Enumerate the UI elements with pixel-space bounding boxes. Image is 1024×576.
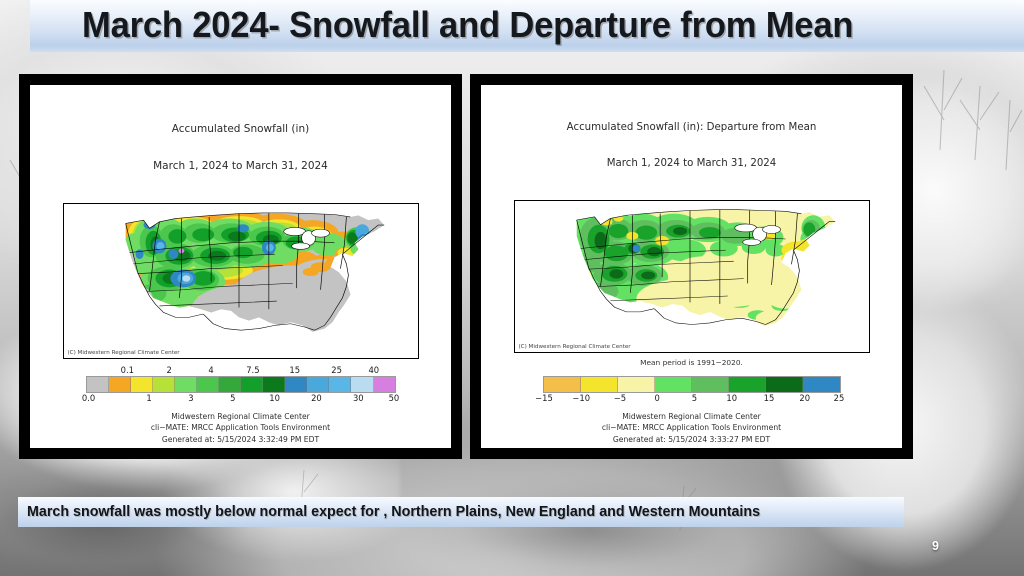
credit-generated-left: Generated at: 5/15/2024 3:32:49 PM EDT [151, 434, 330, 446]
us-departure-choropleth [515, 201, 869, 351]
slide-caption-bar: March snowfall was mostly below normal e… [18, 497, 904, 527]
panel-sheet: Accumulated Snowfall (in) March 1, 2024 … [32, 87, 449, 446]
map-title-line2: March 1, 2024 to March 31, 2024 [153, 160, 328, 172]
colorbar-departure: −15 −10 −5 0 5 10 15 20 25 [543, 376, 841, 404]
map-copyright-right: (C) Midwestern Regional Climate Center [519, 344, 631, 350]
colorbar-snowfall: 0.1 2 4 7.5 15 25 40 [86, 365, 396, 404]
map-credits-right: Midwestern Regional Climate Center cli−M… [602, 411, 781, 446]
map-panel-accumulated-snowfall[interactable]: Accumulated Snowfall (in) March 1, 2024 … [19, 74, 462, 459]
page-number: 9 [932, 539, 939, 553]
colorbar-swatches-departure [543, 376, 841, 393]
us-snowfall-choropleth [64, 204, 418, 358]
panel-sheet: Accumulated Snowfall (in): Departure fro… [483, 87, 900, 446]
colorbar-ticks-below: 0.0 1 3 5 10 20 30 50 [86, 393, 396, 404]
departure-map-plot[interactable]: (C) Midwestern Regional Climate Center [514, 200, 870, 352]
map-title-left: Accumulated Snowfall (in) March 1, 2024 … [153, 98, 328, 197]
colorbar-swatches-snowfall [86, 376, 396, 393]
credit-generated-right: Generated at: 5/15/2024 3:33:27 PM EDT [602, 434, 781, 446]
map-copyright-left: (C) Midwestern Regional Climate Center [68, 350, 180, 356]
panel-inner-border: Accumulated Snowfall (in): Departure fro… [479, 83, 904, 450]
map-title-line1: Accumulated Snowfall (in): Departure fro… [567, 122, 817, 134]
snowfall-map-plot[interactable]: (C) Midwestern Regional Climate Center [63, 203, 419, 359]
credit-org-right: Midwestern Regional Climate Center [602, 411, 781, 423]
slide-title-bar: March 2024- Snowfall and Departure from … [30, 0, 1024, 52]
page-title: March 2024- Snowfall and Departure from … [82, 4, 853, 46]
credit-tool-right: cli−MATE: MRCC Application Tools Environ… [602, 422, 781, 434]
map-title-line2: March 1, 2024 to March 31, 2024 [567, 158, 817, 170]
panel-inner-border: Accumulated Snowfall (in) March 1, 2024 … [28, 83, 453, 450]
map-title-line1: Accumulated Snowfall (in) [153, 123, 328, 135]
map-panel-departure-from-mean[interactable]: Accumulated Snowfall (in): Departure fro… [470, 74, 913, 459]
caption-text: March snowfall was mostly below normal e… [27, 504, 760, 520]
credit-org-left: Midwestern Regional Climate Center [151, 411, 330, 423]
colorbar-ticks-above: 0.1 2 4 7.5 15 25 40 [86, 365, 396, 376]
colorbar-ticks-departure: −15 −10 −5 0 5 10 15 20 25 [543, 393, 841, 404]
map-title-right: Accumulated Snowfall (in): Departure fro… [567, 98, 817, 194]
mean-period-note: Mean period is 1991−2020. [640, 358, 743, 367]
credit-tool-left: cli−MATE: MRCC Application Tools Environ… [151, 422, 330, 434]
map-credits-left: Midwestern Regional Climate Center cli−M… [151, 411, 330, 446]
